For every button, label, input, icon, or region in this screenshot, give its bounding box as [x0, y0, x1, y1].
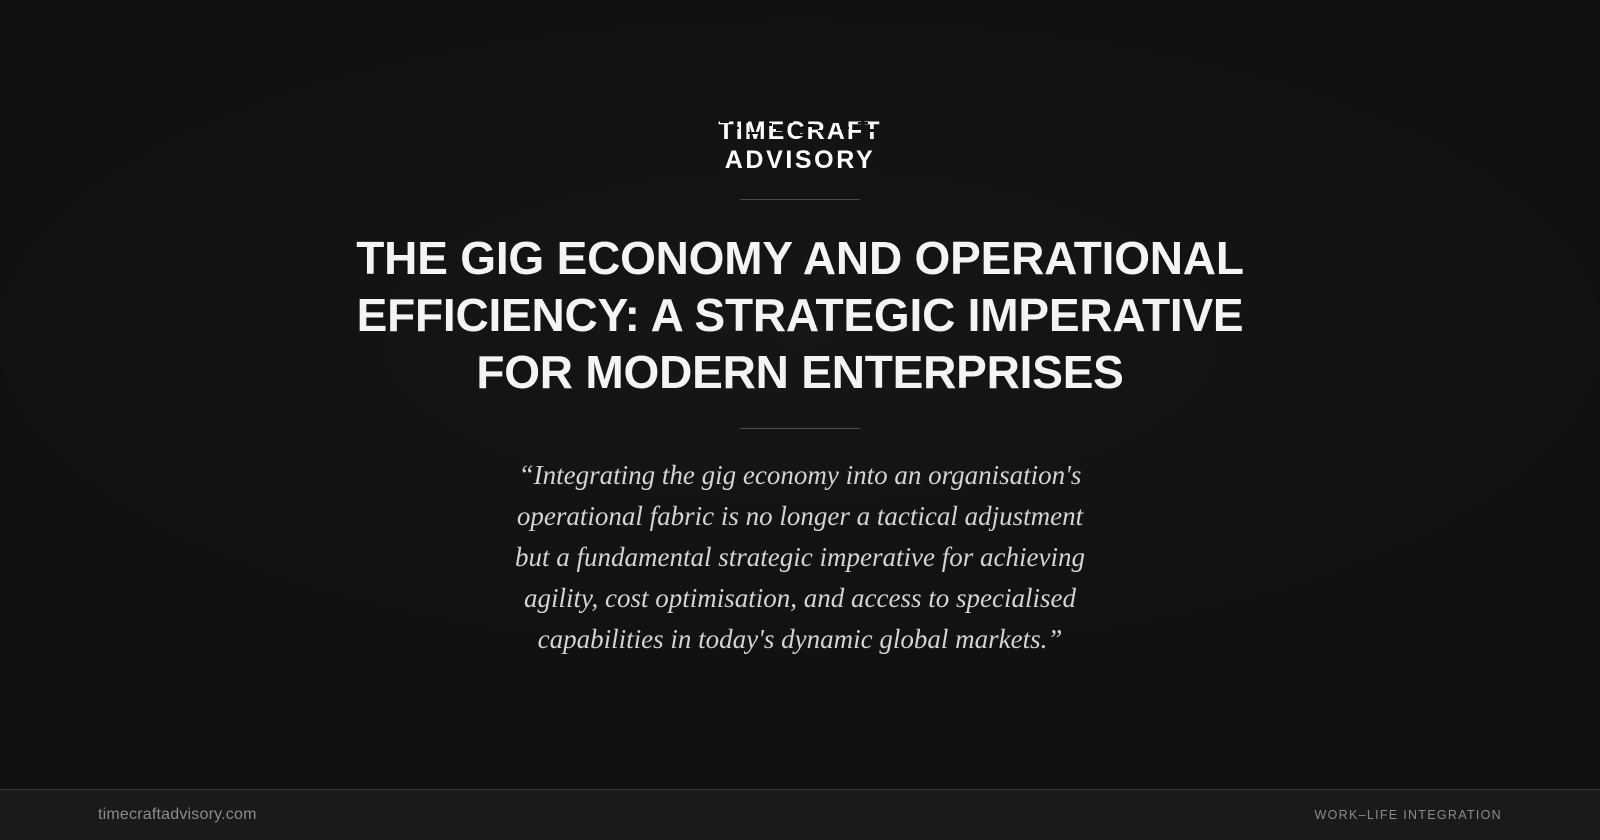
slide-content: TIMECRAFT	[0, 0, 1600, 789]
divider-under-title	[740, 428, 860, 429]
quote-line: capabilities in today's dynamic global m…	[515, 619, 1085, 660]
pull-quote: “Integrating the gig economy into an org…	[515, 455, 1085, 660]
divider-under-logo	[740, 199, 860, 200]
title-slide: TIMECRAFT	[0, 0, 1600, 840]
logo-wordmark-primary-wrap: TIMECRAFT	[718, 118, 881, 144]
logo-wordmark-primary: TIMECRAFT	[718, 118, 881, 144]
quote-line: “Integrating the gig economy into an org…	[515, 455, 1085, 496]
quote-line: but a fundamental strategic imperative f…	[515, 537, 1085, 578]
footer-topic-label: WORK–LIFE INTEGRATION	[1315, 808, 1503, 822]
page-title: THE GIG ECONOMY AND OPERATIONAL EFFICIEN…	[330, 230, 1270, 401]
brand-logo: TIMECRAFT	[718, 118, 881, 174]
slide-footer: timecraftadvisory.com WORK–LIFE INTEGRAT…	[0, 789, 1600, 840]
logo-wordmark-primary-text: TIMECRAFT	[718, 117, 881, 145]
quote-line: operational fabric is no longer a tactic…	[515, 496, 1085, 537]
quote-line: agility, cost optimisation, and access t…	[515, 578, 1085, 619]
logo-wordmark-secondary: ADVISORY	[725, 147, 875, 174]
footer-website[interactable]: timecraftadvisory.com	[98, 806, 257, 824]
